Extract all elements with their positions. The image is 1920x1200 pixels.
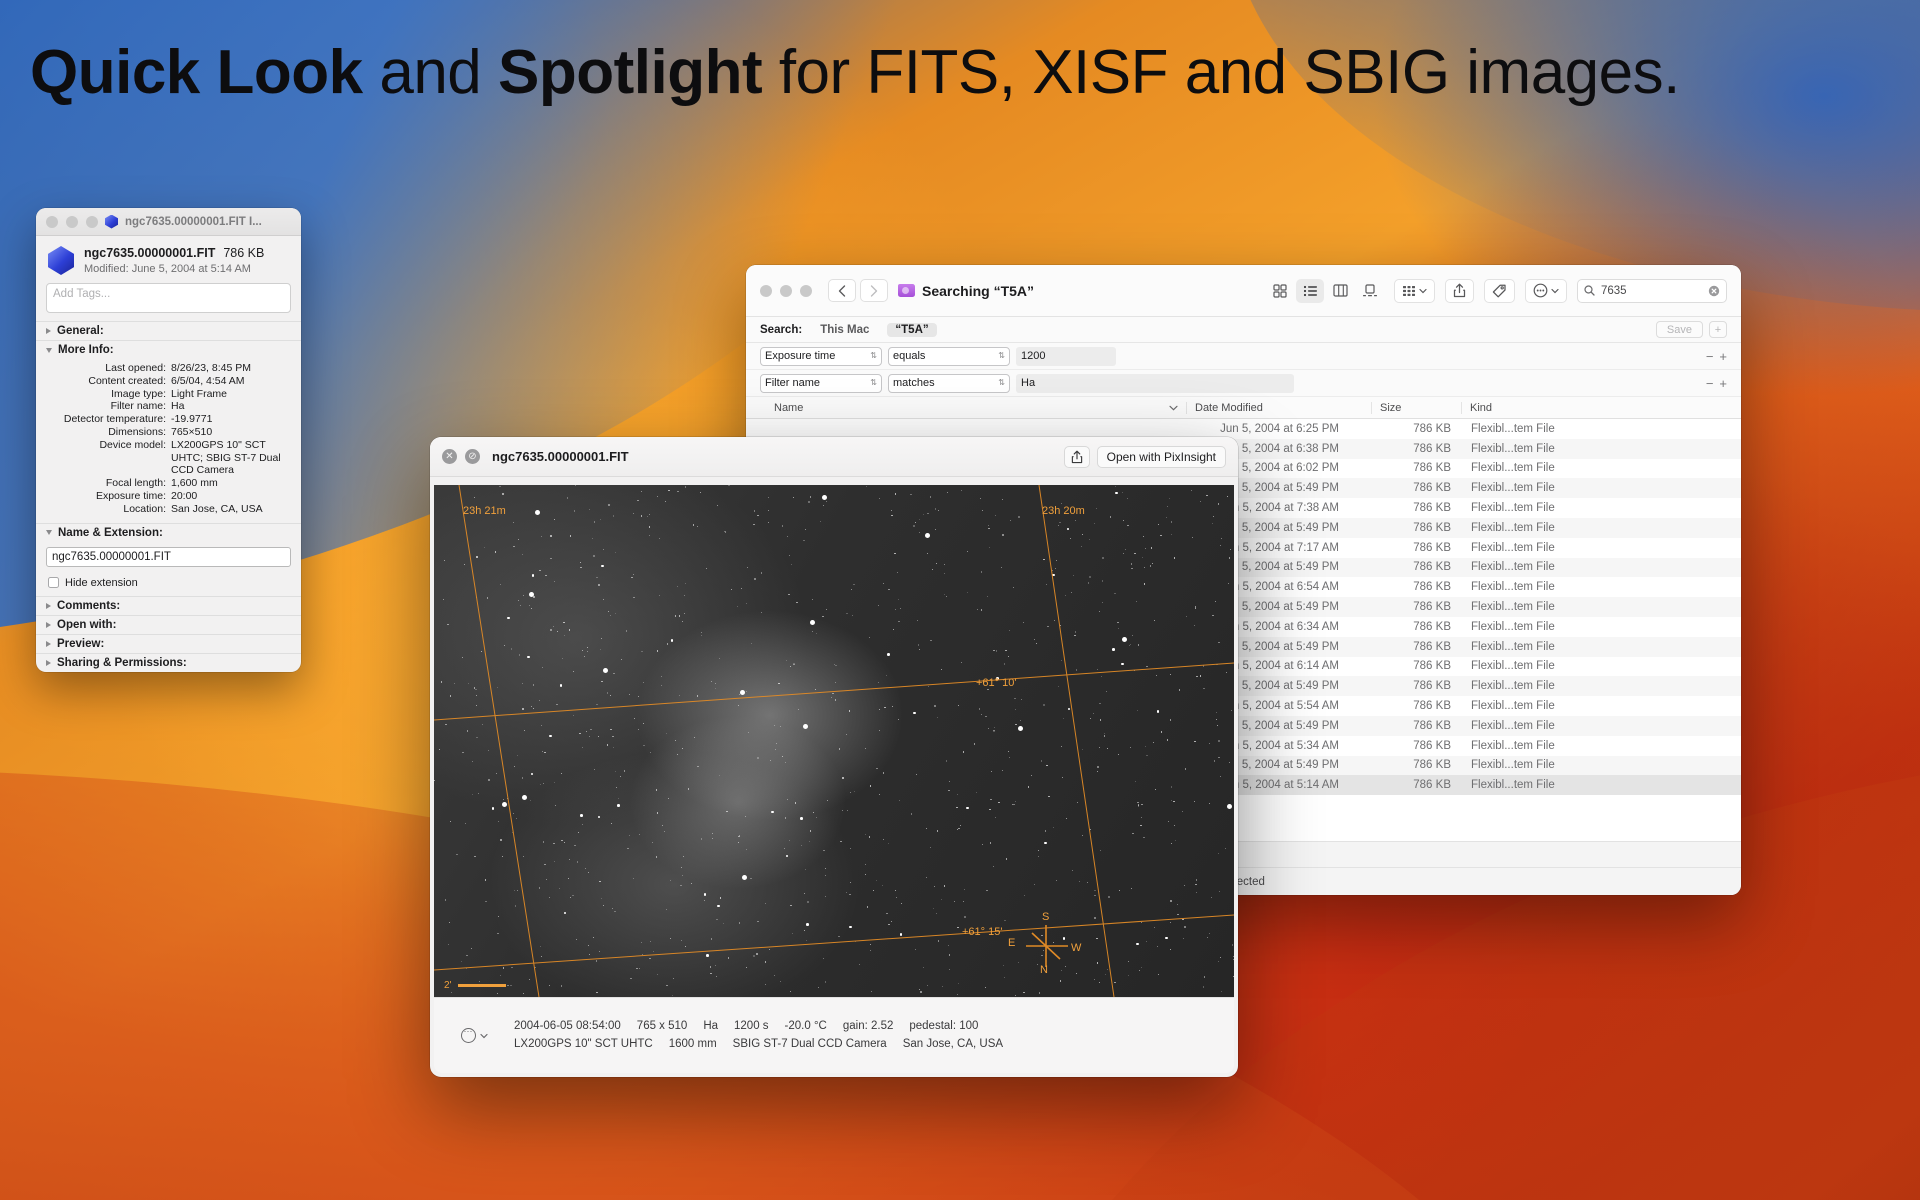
- metadata-item: Ha: [703, 1018, 718, 1036]
- compass-rose: [1026, 925, 1068, 967]
- close-button[interactable]: [46, 216, 58, 228]
- file-name-input[interactable]: ngc7635.00000001.FIT: [46, 547, 291, 567]
- grid-line-ra-left: [459, 485, 539, 997]
- criteria-operator-select[interactable]: matches⇅: [888, 374, 1010, 393]
- cell-kind: Flexibl...tem File: [1461, 759, 1741, 771]
- info-modified: Modified: June 5, 2004 at 5:14 AM: [84, 263, 264, 275]
- metadata-item: pedestal: 100: [909, 1018, 978, 1036]
- cell-kind: Flexibl...tem File: [1461, 680, 1741, 692]
- cell-kind: Flexibl...tem File: [1461, 601, 1741, 613]
- cell-size: 786 KB: [1371, 482, 1461, 494]
- add-criteria-button[interactable]: +: [1709, 321, 1727, 338]
- cell-size: 786 KB: [1371, 720, 1461, 732]
- section-comments[interactable]: Comments:: [36, 596, 301, 615]
- cell-kind: Flexibl...tem File: [1461, 581, 1741, 593]
- criteria-row-buttons[interactable]: −+: [1706, 376, 1727, 391]
- more-info-value: Ha: [171, 400, 289, 413]
- more-info-row: Image type:Light Frame: [42, 388, 289, 401]
- cell-size: 786 KB: [1371, 759, 1461, 771]
- scale-bar-line: [458, 984, 506, 987]
- column-header-size[interactable]: Size: [1371, 402, 1461, 414]
- ellipsis-circle-icon: [1533, 283, 1548, 298]
- cell-size: 786 KB: [1371, 621, 1461, 633]
- cell-size: 786 KB: [1371, 462, 1461, 474]
- headline-part-4: for FITS, XISF and SBIG images.: [762, 38, 1680, 107]
- close-button[interactable]: [760, 285, 772, 297]
- chevron-updown-icon: ⇅: [870, 352, 877, 360]
- compass-label-w: W: [1071, 942, 1081, 954]
- minimize-button[interactable]: [780, 285, 792, 297]
- window-controls[interactable]: [46, 216, 98, 228]
- more-info-key: Image type:: [42, 388, 166, 401]
- save-search-button[interactable]: Save: [1656, 321, 1703, 338]
- chevron-right-icon: [46, 603, 51, 609]
- info-header: ngc7635.00000001.FIT786 KB Modified: Jun…: [36, 236, 301, 283]
- cell-size: 786 KB: [1371, 660, 1461, 672]
- more-info-value: LX200GPS 10" SCT UHTC; SBIG ST-7 Dual CC…: [171, 439, 289, 477]
- metadata-item: 2004-06-05 08:54:00: [514, 1018, 621, 1036]
- cell-size: 786 KB: [1371, 502, 1461, 514]
- grid-line-ra-right: [1039, 485, 1114, 997]
- more-info-key: Content created:: [42, 375, 166, 388]
- criteria-value-input[interactable]: 1200: [1016, 347, 1116, 366]
- add-tags-input[interactable]: Add Tags...: [46, 283, 291, 313]
- scope-this-mac[interactable]: This Mac: [812, 323, 877, 337]
- search-input-value: 7635: [1601, 285, 1702, 297]
- grid-line-dec-lower: [434, 915, 1234, 970]
- cell-size: 786 KB: [1371, 423, 1461, 435]
- view-list-button[interactable]: [1296, 279, 1324, 303]
- close-icon[interactable]: ✕: [442, 449, 457, 464]
- clear-search-icon: [1708, 285, 1720, 297]
- forward-button[interactable]: [860, 279, 888, 302]
- fits-file-icon-large: [48, 246, 74, 275]
- share-button[interactable]: [1445, 279, 1474, 303]
- cell-kind: Flexibl...tem File: [1461, 641, 1741, 653]
- view-column-button[interactable]: [1326, 279, 1354, 303]
- more-info-row: Focal length:1,600 mm: [42, 477, 289, 490]
- zoom-button[interactable]: [86, 216, 98, 228]
- quick-look-image-area: 23h 21m 23h 20m +61° 10' +61° 15' S N E …: [434, 485, 1234, 997]
- chevron-down-icon: [1551, 288, 1559, 294]
- section-more-info[interactable]: More Info:: [36, 340, 301, 359]
- more-info-value: 1,600 mm: [171, 477, 289, 490]
- remove-criteria-button[interactable]: −: [1706, 376, 1714, 391]
- metadata-item: gain: 2.52: [843, 1018, 894, 1036]
- section-general[interactable]: General:: [36, 321, 301, 340]
- more-info-row: Exposure time:20:00: [42, 490, 289, 503]
- headline-part-2: and: [363, 38, 498, 107]
- section-preview[interactable]: Preview:: [36, 634, 301, 653]
- view-icon-button[interactable]: [1266, 279, 1294, 303]
- smart-folder-icon: [898, 284, 915, 297]
- cell-size: 786 KB: [1371, 581, 1461, 593]
- fits-file-icon: [105, 215, 118, 229]
- share-icon: [1453, 283, 1466, 298]
- cell-size: 786 KB: [1371, 779, 1461, 791]
- search-icon: [1584, 285, 1595, 296]
- chevron-right-icon: [46, 328, 51, 334]
- cell-kind: Flexibl...tem File: [1461, 462, 1741, 474]
- view-mode-group[interactable]: [1266, 279, 1384, 303]
- cell-kind: Flexibl...tem File: [1461, 660, 1741, 672]
- hide-extension-row[interactable]: Hide extension: [36, 573, 301, 596]
- section-general-label: General:: [57, 325, 104, 337]
- ra-label-right: 23h 20m: [1042, 505, 1085, 517]
- more-info-row: Detector temperature:-19.9771: [42, 413, 289, 426]
- coordinate-grid-overlay: [434, 485, 1234, 997]
- more-info-row: Location:San Jose, CA, USA: [42, 503, 289, 516]
- cell-kind: Flexibl...tem File: [1461, 522, 1741, 534]
- criteria-value-input[interactable]: Ha: [1016, 374, 1294, 393]
- cell-kind: Flexibl...tem File: [1461, 561, 1741, 573]
- tag-icon: [1492, 284, 1507, 298]
- metadata-item: SBIG ST-7 Dual CCD Camera: [733, 1036, 887, 1054]
- scope-folder[interactable]: “T5A”: [887, 323, 936, 337]
- quick-look-title: ngc7635.00000001.FIT: [492, 449, 629, 464]
- chevron-down-icon: [480, 1033, 488, 1039]
- group-icon: [1402, 285, 1416, 297]
- quick-look-share-button[interactable]: [1064, 446, 1090, 468]
- criteria-attribute-value: Filter name: [765, 377, 820, 389]
- cell-size: 786 KB: [1371, 443, 1461, 455]
- quick-look-actions: Open with PixInsight: [1064, 446, 1226, 468]
- cell-size: 786 KB: [1371, 740, 1461, 752]
- metadata-item: -20.0 °C: [785, 1018, 827, 1036]
- criteria-attribute-select[interactable]: Exposure time⇅: [760, 347, 882, 366]
- emoji-circle-icon: [461, 1028, 476, 1043]
- more-info-value: 6/5/04, 4:54 AM: [171, 375, 289, 388]
- info-titlebar[interactable]: ngc7635.00000001.FIT I...: [36, 208, 301, 236]
- more-info-row: Filter name:Ha: [42, 400, 289, 413]
- cell-kind: Flexibl...tem File: [1461, 443, 1741, 455]
- section-sharing-label: Sharing & Permissions:: [57, 657, 187, 669]
- more-info-key: Device model:: [42, 439, 166, 477]
- cell-kind: Flexibl...tem File: [1461, 482, 1741, 494]
- share-icon: [1071, 450, 1083, 464]
- column-header-date-modified[interactable]: Date Modified: [1186, 402, 1371, 414]
- name-extension-box: ngc7635.00000001.FIT: [36, 542, 301, 573]
- dec-label-upper: +61° 10': [976, 677, 1016, 689]
- column-header-name[interactable]: Name: [746, 402, 1186, 414]
- criteria-attribute-value: Exposure time: [765, 350, 835, 362]
- zoom-button[interactable]: [800, 285, 812, 297]
- chevron-updown-icon: ⇅: [998, 379, 1005, 387]
- quick-look-metadata: 2004-06-05 08:54:00765 x 510Ha1200 s-20.…: [514, 1018, 1234, 1054]
- chevron-updown-icon: ⇅: [870, 379, 877, 387]
- tags-button[interactable]: [1484, 279, 1515, 303]
- info-window-title: ngc7635.00000001.FIT I...: [125, 216, 262, 228]
- more-info-key: Exposure time:: [42, 490, 166, 503]
- criteria-value-text: 1200: [1021, 350, 1045, 362]
- cell-size: 786 KB: [1371, 561, 1461, 573]
- view-gallery-button[interactable]: [1356, 279, 1384, 303]
- cell-size: 786 KB: [1371, 680, 1461, 692]
- chevron-updown-icon: ⇅: [998, 352, 1005, 360]
- cell-size: 786 KB: [1371, 700, 1461, 712]
- remove-criteria-button[interactable]: −: [1706, 349, 1714, 364]
- headline-part-1: Quick Look: [30, 38, 363, 107]
- more-info-row: Dimensions:765×510: [42, 426, 289, 439]
- section-comments-label: Comments:: [57, 600, 120, 612]
- chevron-right-icon: [870, 285, 878, 297]
- more-info-table: Last opened:8/26/23, 8:45 PMContent crea…: [36, 359, 301, 523]
- list-icon: [1303, 284, 1318, 298]
- metadata-item: 1600 mm: [669, 1036, 717, 1054]
- cell-kind: Flexibl...tem File: [1461, 542, 1741, 554]
- more-info-row: Device model:LX200GPS 10" SCT UHTC; SBIG…: [42, 439, 289, 477]
- chevron-right-icon: [46, 622, 51, 628]
- gallery-icon: [1362, 284, 1378, 297]
- column-header-kind[interactable]: Kind: [1461, 402, 1741, 414]
- chevron-down-icon: [46, 530, 52, 535]
- cell-date-modified: Jun 5, 2004 at 6:25 PM: [1186, 423, 1371, 435]
- cell-kind: Flexibl...tem File: [1461, 779, 1741, 791]
- scale-bar: 2': [444, 980, 506, 991]
- table-row[interactable]: Jun 5, 2004 at 6:25 PM786 KBFlexibl...te…: [746, 419, 1741, 439]
- hide-extension-checkbox[interactable]: [48, 577, 59, 588]
- metadata-item: 1200 s: [734, 1018, 769, 1036]
- cell-kind: Flexibl...tem File: [1461, 740, 1741, 752]
- cell-kind: Flexibl...tem File: [1461, 423, 1741, 435]
- cell-kind: Flexibl...tem File: [1461, 621, 1741, 633]
- criteria-attribute-select[interactable]: Filter name⇅: [760, 374, 882, 393]
- metadata-item: 765 x 510: [637, 1018, 688, 1036]
- quick-look-window[interactable]: ✕ ⊘ ngc7635.00000001.FIT Open with PixIn…: [430, 437, 1238, 1077]
- chevron-down-icon: [46, 348, 52, 353]
- grid-icon: [1273, 284, 1287, 298]
- hide-extension-label: Hide extension: [65, 577, 138, 589]
- add-criteria-button[interactable]: +: [1719, 349, 1727, 364]
- section-name-extension[interactable]: Name & Extension:: [36, 523, 301, 542]
- search-criteria-row: Exposure time⇅equals⇅1200−+: [746, 343, 1741, 370]
- section-sharing-permissions[interactable]: Sharing & Permissions:: [36, 653, 301, 672]
- columns-icon: [1333, 284, 1348, 297]
- compass-label-n: N: [1040, 964, 1048, 976]
- no-entry-icon[interactable]: ⊘: [465, 449, 480, 464]
- chevron-right-icon: [46, 641, 51, 647]
- cell-kind: Flexibl...tem File: [1461, 720, 1741, 732]
- cell-size: 786 KB: [1371, 542, 1461, 554]
- group-by-button[interactable]: [1394, 279, 1435, 303]
- more-info-value: San Jose, CA, USA: [171, 503, 289, 516]
- section-open-with[interactable]: Open with:: [36, 615, 301, 634]
- headline-part-3: Spotlight: [498, 38, 762, 107]
- criteria-value-text: Ha: [1021, 377, 1035, 389]
- section-more-info-label: More Info:: [58, 344, 114, 356]
- compass-label-e: E: [1008, 937, 1015, 949]
- more-info-key: Filter name:: [42, 400, 166, 413]
- search-criteria-list: Exposure time⇅equals⇅1200−+Filter name⇅m…: [746, 343, 1741, 397]
- finder-title-text: Searching “T5A”: [922, 283, 1034, 299]
- back-button[interactable]: [828, 279, 856, 302]
- more-info-key: Last opened:: [42, 362, 166, 375]
- search-label: Search:: [760, 324, 802, 336]
- metadata-item: San Jose, CA, USA: [903, 1036, 1003, 1054]
- more-info-value: -19.9771: [171, 413, 289, 426]
- search-criteria-row: Filter name⇅matches⇅Ha−+: [746, 370, 1741, 397]
- info-file-size: 786 KB: [223, 246, 264, 260]
- criteria-operator-value: equals: [893, 350, 925, 362]
- window-controls[interactable]: [760, 285, 812, 297]
- more-info-key: Location:: [42, 503, 166, 516]
- more-info-key: Detector temperature:: [42, 413, 166, 426]
- metadata-item: LX200GPS 10" SCT UHTC: [514, 1036, 653, 1054]
- section-preview-label: Preview:: [57, 638, 104, 650]
- add-tags-placeholder: Add Tags...: [53, 288, 110, 300]
- get-info-window[interactable]: ngc7635.00000001.FIT I... ngc7635.000000…: [36, 208, 301, 672]
- more-info-value: 765×510: [171, 426, 289, 439]
- quick-look-footer: 2004-06-05 08:54:00765 x 510Ha1200 s-20.…: [434, 997, 1234, 1073]
- quick-look-footer-menu[interactable]: [434, 1028, 514, 1043]
- search-scope-bar: Search: This Mac “T5A” Save +: [746, 317, 1741, 343]
- file-list-header: Name Date Modified Size Kind: [746, 397, 1741, 419]
- open-with-pixinsight-button[interactable]: Open with PixInsight: [1097, 446, 1226, 468]
- cell-kind: Flexibl...tem File: [1461, 700, 1741, 712]
- more-info-value: 20:00: [171, 490, 289, 503]
- criteria-operator-value: matches: [893, 377, 935, 389]
- ra-label-left: 23h 21m: [463, 505, 506, 517]
- metadata-row-2: LX200GPS 10" SCT UHTC1600 mmSBIG ST-7 Du…: [514, 1036, 1234, 1054]
- column-header-name-label: Name: [774, 402, 803, 414]
- cell-size: 786 KB: [1371, 522, 1461, 534]
- minimize-button[interactable]: [66, 216, 78, 228]
- criteria-operator-select[interactable]: equals⇅: [888, 347, 1010, 366]
- more-info-value: 8/26/23, 8:45 PM: [171, 362, 289, 375]
- section-open-with-label: Open with:: [57, 619, 116, 631]
- dec-label-lower: +61° 15': [962, 926, 1002, 938]
- chevron-left-icon: [838, 285, 846, 297]
- quick-look-titlebar[interactable]: ✕ ⊘ ngc7635.00000001.FIT Open with PixIn…: [430, 437, 1238, 477]
- file-name-value: ngc7635.00000001.FIT: [52, 551, 171, 563]
- sort-chevron-down-icon: [1169, 405, 1178, 411]
- cell-kind: Flexibl...tem File: [1461, 502, 1741, 514]
- more-info-key: Focal length:: [42, 477, 166, 490]
- chevron-down-icon: [1419, 288, 1427, 294]
- finder-window-title: Searching “T5A”: [898, 283, 1034, 299]
- metadata-row-1: 2004-06-05 08:54:00765 x 510Ha1200 s-20.…: [514, 1018, 1234, 1036]
- cell-size: 786 KB: [1371, 601, 1461, 613]
- add-criteria-button[interactable]: +: [1719, 376, 1727, 391]
- search-input[interactable]: 7635: [1577, 279, 1727, 303]
- more-info-value: Light Frame: [171, 388, 289, 401]
- more-info-row: Last opened:8/26/23, 8:45 PM: [42, 362, 289, 375]
- info-file-name: ngc7635.00000001.FIT: [84, 246, 215, 260]
- grid-line-dec-upper: [434, 663, 1234, 720]
- more-actions-button[interactable]: [1525, 279, 1567, 303]
- section-name-extension-label: Name & Extension:: [58, 527, 163, 539]
- scale-bar-label: 2': [444, 980, 451, 991]
- chevron-right-icon: [46, 660, 51, 666]
- cell-size: 786 KB: [1371, 641, 1461, 653]
- page-headline: Quick Look and Spotlight for FITS, XISF …: [30, 40, 1900, 105]
- more-info-key: Dimensions:: [42, 426, 166, 439]
- more-info-row: Content created:6/5/04, 4:54 AM: [42, 375, 289, 388]
- compass-label-s: S: [1042, 911, 1049, 923]
- finder-toolbar: Searching “T5A”: [746, 265, 1741, 317]
- criteria-row-buttons[interactable]: −+: [1706, 349, 1727, 364]
